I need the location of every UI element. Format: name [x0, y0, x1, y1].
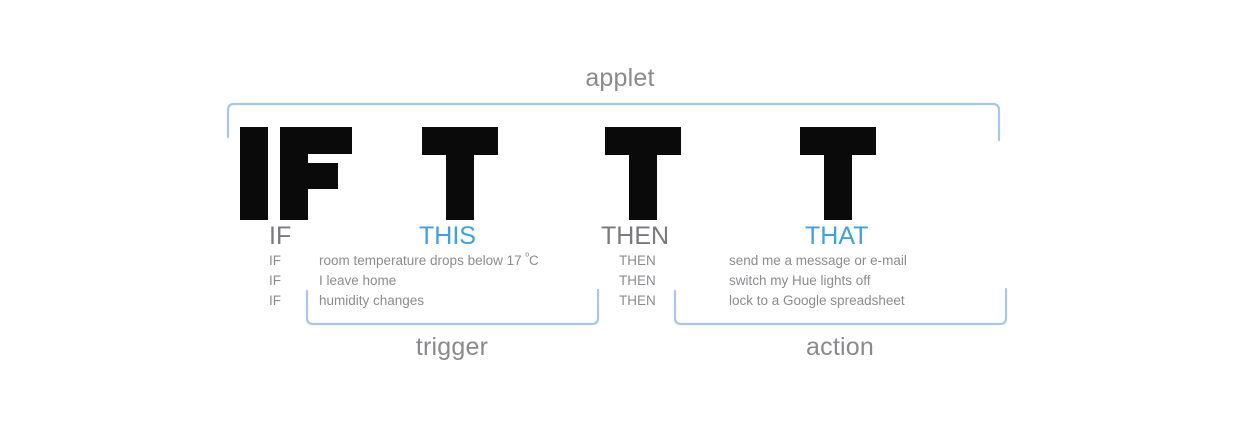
trigger-phrase: I leave home — [319, 271, 539, 291]
if-keyword: IF — [269, 291, 281, 311]
action-phrase: lock to a Google spreadsheet — [729, 291, 907, 311]
column-caption-then: THEN — [601, 224, 669, 249]
then-keyword: THEN — [619, 271, 656, 291]
column-caption-this: THIS — [419, 224, 476, 249]
trigger-phrase-text: room temperature drops below 17 — [319, 253, 525, 268]
if-keyword-column: IF IF IF — [269, 251, 281, 311]
applet-scope-label: applet — [0, 64, 1240, 93]
big-glyph-t-that — [800, 127, 876, 220]
then-keyword: THEN — [619, 251, 656, 271]
ifttt-concept-diagram: applet IF THIS THEN THAT — [0, 0, 1240, 440]
trigger-phrase: humidity changes — [319, 291, 539, 311]
column-caption-that: THAT — [805, 224, 868, 249]
action-phrase: switch my Hue lights off — [729, 271, 907, 291]
then-keyword: THEN — [619, 291, 656, 311]
big-glyph-if — [240, 127, 352, 220]
big-glyph-t-then — [605, 127, 681, 220]
big-glyph-t-this — [422, 127, 498, 220]
action-phrase: send me a message or e-mail — [729, 251, 907, 271]
trigger-scope-label: trigger — [306, 333, 598, 362]
action-scope-label: action — [674, 333, 1006, 362]
trigger-phrase-column: room temperature drops below 17 ºC I lea… — [319, 251, 539, 311]
trigger-phrase-unit: C — [529, 253, 539, 268]
then-keyword-column: THEN THEN THEN — [619, 251, 656, 311]
if-keyword: IF — [269, 251, 281, 271]
column-caption-if: IF — [269, 224, 291, 249]
action-phrase-column: send me a message or e-mail switch my Hu… — [729, 251, 907, 311]
trigger-phrase: room temperature drops below 17 ºC — [319, 251, 539, 271]
if-keyword: IF — [269, 271, 281, 291]
